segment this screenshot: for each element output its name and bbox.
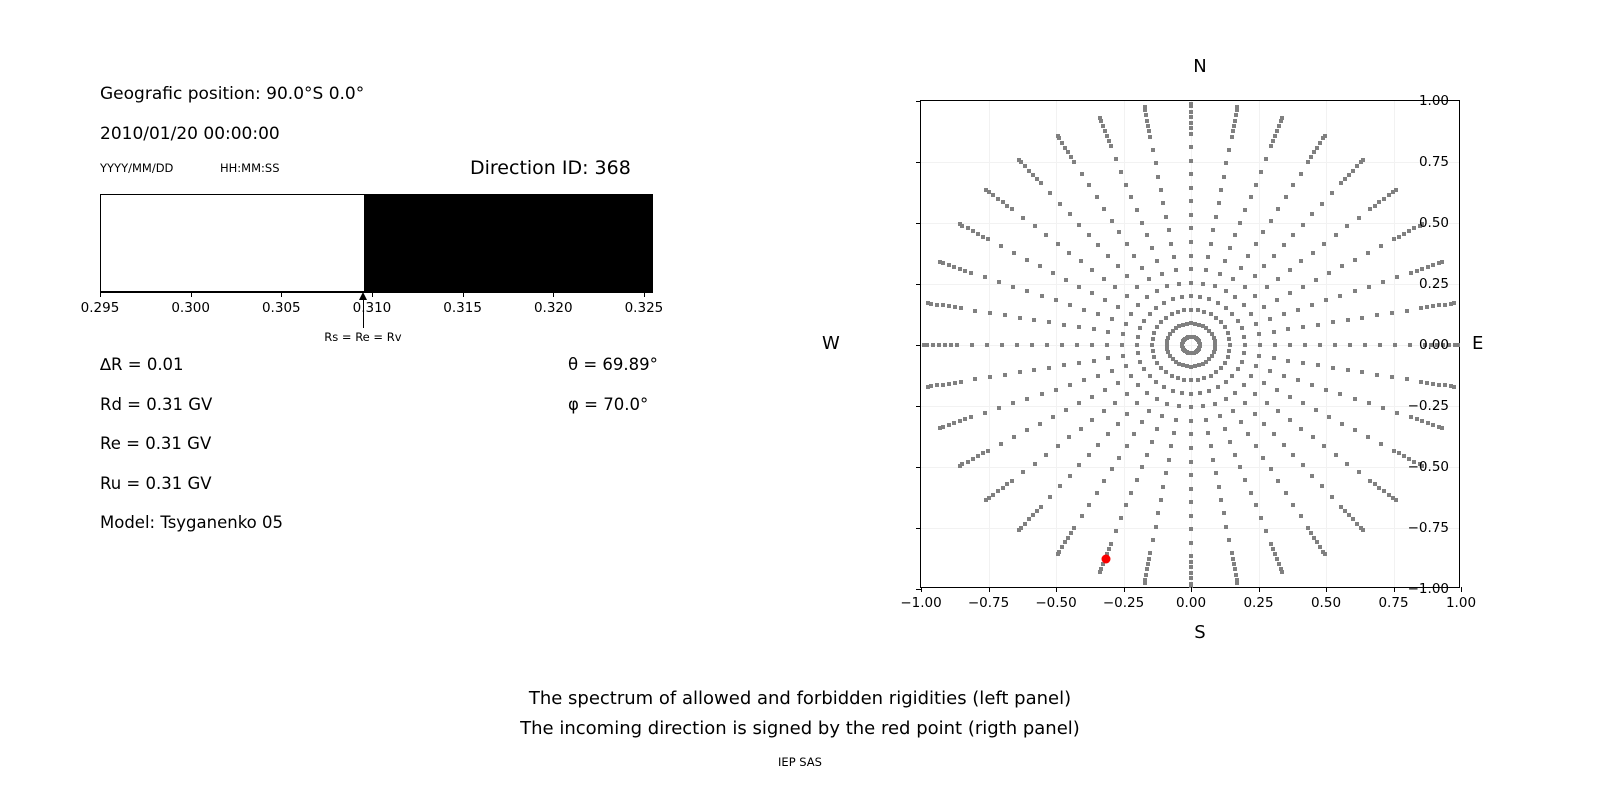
sky-dot bbox=[1331, 320, 1335, 324]
sky-dot bbox=[969, 271, 973, 275]
sky-dot bbox=[1005, 204, 1009, 208]
sky-dot bbox=[1125, 294, 1129, 298]
sky-dot bbox=[1021, 470, 1025, 474]
sky-dot bbox=[1145, 295, 1149, 299]
sky-dot bbox=[1116, 305, 1120, 309]
sky-dot bbox=[1080, 514, 1084, 518]
sky-dot bbox=[1440, 426, 1444, 430]
sky-dot bbox=[1068, 474, 1072, 478]
sky-dot bbox=[1075, 343, 1079, 347]
sky-dot bbox=[1010, 207, 1014, 211]
sky-dot bbox=[1198, 295, 1202, 299]
rigidity-tick-label: 0.305 bbox=[262, 300, 301, 316]
sky-dot bbox=[1169, 242, 1173, 246]
sky-dot bbox=[1431, 382, 1435, 386]
sky-dot bbox=[1282, 312, 1286, 316]
sky-dot bbox=[1161, 201, 1165, 205]
sky-dot bbox=[1242, 383, 1246, 387]
sky-dot bbox=[1230, 312, 1234, 316]
sky-dot bbox=[1243, 343, 1247, 347]
rigidity-tick bbox=[644, 292, 645, 297]
sky-dot bbox=[1231, 409, 1235, 413]
sky-dot bbox=[1138, 360, 1142, 364]
sky-dot bbox=[1063, 540, 1067, 544]
sky-dot bbox=[1092, 359, 1096, 363]
sky-dot bbox=[1027, 169, 1031, 173]
sky-dot bbox=[1106, 356, 1110, 360]
sky-dot bbox=[1125, 242, 1129, 246]
sky-dot bbox=[1119, 170, 1123, 174]
sky-dot bbox=[1242, 303, 1246, 307]
rigidity-tick-label: 0.325 bbox=[625, 300, 664, 316]
sky-dot bbox=[1233, 453, 1237, 457]
rigidity-tick-label: 0.320 bbox=[534, 300, 573, 316]
rigidity-tick-label: 0.300 bbox=[171, 300, 210, 316]
sky-dot bbox=[1271, 139, 1275, 143]
sky-dot bbox=[971, 229, 975, 233]
sky-dot bbox=[1402, 454, 1406, 458]
sky-dot bbox=[1056, 242, 1060, 246]
sky-dot bbox=[1125, 412, 1129, 416]
sky-dot bbox=[1282, 374, 1286, 378]
sky-dot bbox=[1155, 361, 1159, 365]
rs-annotation-arrow-head bbox=[359, 292, 367, 300]
sky-dot bbox=[1301, 285, 1305, 289]
sky-dot bbox=[981, 235, 985, 239]
sky-dot bbox=[1032, 318, 1036, 322]
sky-dot bbox=[1102, 409, 1106, 413]
sky-dot bbox=[1054, 298, 1058, 302]
sky-dot bbox=[1226, 331, 1230, 335]
date-format-hint: YYYY/MM/DD bbox=[100, 161, 173, 175]
sky-dot bbox=[1219, 188, 1223, 192]
y-axis-tick-label: −0.75 bbox=[1408, 520, 1449, 536]
sky-dot bbox=[1135, 343, 1139, 347]
sky-dot bbox=[1174, 268, 1178, 272]
sky-dot bbox=[1315, 146, 1319, 150]
sky-dot bbox=[1375, 313, 1379, 317]
sky-dot bbox=[1160, 272, 1164, 276]
sky-dot bbox=[1132, 432, 1136, 436]
x-axis-tick-label: −1.00 bbox=[900, 595, 941, 611]
sky-dot bbox=[1355, 164, 1359, 168]
sky-dot bbox=[1327, 415, 1331, 419]
sky-dot bbox=[1048, 495, 1052, 499]
sky-dot bbox=[1077, 401, 1081, 405]
sky-dot bbox=[1135, 208, 1139, 212]
sky-dot bbox=[1182, 308, 1186, 312]
left-panel: Geografic position: 90.0°S 0.0° 2010/01/… bbox=[0, 0, 800, 680]
sky-dot bbox=[937, 343, 941, 347]
sky-dot bbox=[953, 305, 957, 309]
sky-dot bbox=[1234, 573, 1238, 577]
sky-dot bbox=[1023, 522, 1027, 526]
sky-dot bbox=[1343, 177, 1347, 181]
sky-dot bbox=[1310, 303, 1314, 307]
sky-dot bbox=[1047, 366, 1051, 370]
sky-dot bbox=[958, 267, 962, 271]
sky-dot bbox=[1068, 383, 1072, 387]
y-axis-tick-label: −1.00 bbox=[1408, 581, 1449, 597]
sky-dot bbox=[941, 303, 945, 307]
footer-credit: IEP SAS bbox=[0, 755, 1600, 769]
sky-dot bbox=[1273, 343, 1277, 347]
sky-dot bbox=[1315, 540, 1319, 544]
sky-dot bbox=[1039, 505, 1043, 509]
sky-dot bbox=[1082, 308, 1086, 312]
sky-dot bbox=[1201, 404, 1205, 408]
sky-dot bbox=[1124, 503, 1128, 507]
sky-dot bbox=[1233, 391, 1237, 395]
x-axis-tick bbox=[1191, 587, 1192, 592]
rigidity-tick-label: 0.315 bbox=[443, 300, 482, 316]
sky-dot bbox=[1249, 195, 1253, 199]
sky-dot bbox=[1155, 289, 1159, 293]
sky-dot bbox=[1160, 414, 1164, 418]
sky-dot bbox=[1253, 392, 1257, 396]
sky-dot bbox=[997, 280, 1001, 284]
y-axis-tick bbox=[916, 467, 921, 468]
sky-dot bbox=[1064, 408, 1068, 412]
sky-dot bbox=[1228, 440, 1232, 444]
y-axis-tick bbox=[916, 223, 921, 224]
sky-dot bbox=[1390, 375, 1394, 379]
sky-dot bbox=[1202, 376, 1206, 380]
sky-dot bbox=[1261, 230, 1265, 234]
sky-dot bbox=[1216, 301, 1220, 305]
sky-dot bbox=[1155, 397, 1159, 401]
sky-dot bbox=[1189, 281, 1193, 285]
sky-dot bbox=[1426, 421, 1430, 425]
direction-id-label: Direction ID: 368 bbox=[470, 157, 631, 179]
sky-dot bbox=[986, 237, 990, 241]
sky-dot bbox=[1381, 280, 1385, 284]
sky-dot bbox=[1360, 316, 1364, 320]
sky-dot bbox=[1253, 294, 1257, 298]
sky-dot bbox=[1015, 343, 1019, 347]
sky-dot bbox=[1373, 482, 1377, 486]
sky-dot bbox=[1246, 254, 1250, 258]
sky-dot bbox=[1125, 274, 1129, 278]
sky-dot bbox=[1275, 298, 1279, 302]
sky-dot bbox=[1282, 243, 1286, 247]
sky-dot bbox=[1177, 362, 1181, 366]
sky-dot bbox=[1106, 432, 1110, 436]
rs-annotation-arrow-shaft bbox=[363, 300, 364, 328]
sky-dot bbox=[1119, 516, 1123, 520]
sky-dot bbox=[1443, 383, 1447, 387]
rigidity-tick bbox=[281, 292, 282, 297]
sky-dot bbox=[1056, 552, 1060, 556]
sky-dot bbox=[1276, 277, 1280, 281]
rigidity-tick bbox=[372, 292, 373, 297]
x-axis-tick-label: 0.00 bbox=[1176, 595, 1206, 611]
sky-dot bbox=[1412, 226, 1416, 230]
sky-dot bbox=[1275, 557, 1279, 561]
sky-dot bbox=[1395, 275, 1399, 279]
sky-dot bbox=[1079, 427, 1083, 431]
sky-dot bbox=[1106, 330, 1110, 334]
x-axis-tick-label: −0.25 bbox=[1103, 595, 1144, 611]
y-axis-tick bbox=[916, 162, 921, 163]
sky-dot bbox=[1147, 277, 1151, 281]
sky-dot bbox=[1174, 418, 1178, 422]
y-axis-tick bbox=[916, 406, 921, 407]
sky-dot bbox=[1148, 551, 1152, 555]
rigidity-tick bbox=[463, 292, 464, 297]
sky-dot bbox=[1105, 343, 1109, 347]
sky-dot bbox=[938, 260, 942, 264]
sky-dot bbox=[1280, 570, 1284, 574]
sky-dot bbox=[1268, 369, 1272, 373]
sky-dot bbox=[1145, 567, 1149, 571]
time-format-hint: HH:MM:SS bbox=[220, 161, 280, 175]
sky-dot bbox=[1211, 458, 1215, 462]
sky-dot bbox=[1269, 219, 1273, 223]
sky-dot bbox=[1301, 401, 1305, 405]
y-axis-tick-label: 0.50 bbox=[1419, 215, 1449, 231]
sky-dot bbox=[1054, 388, 1058, 392]
sky-dot bbox=[1214, 316, 1218, 320]
sky-dot bbox=[1324, 298, 1328, 302]
sky-dot bbox=[1312, 536, 1316, 540]
sky-dot bbox=[1189, 132, 1193, 136]
sky-dot bbox=[1223, 325, 1227, 329]
sky-dot bbox=[983, 411, 987, 415]
sky-dot bbox=[1087, 503, 1091, 507]
sky-dot bbox=[1440, 260, 1444, 264]
sky-dot bbox=[1303, 343, 1307, 347]
sky-dot bbox=[1311, 435, 1315, 439]
sky-dot bbox=[1116, 381, 1120, 385]
sky-dot bbox=[1125, 444, 1129, 448]
sky-dot bbox=[1375, 373, 1379, 377]
sky-dot bbox=[1198, 391, 1202, 395]
sky-dot bbox=[1025, 258, 1029, 262]
x-axis-tick-label: 0.25 bbox=[1243, 595, 1273, 611]
sky-dot bbox=[1223, 361, 1227, 365]
compass-label-north: N bbox=[1193, 56, 1206, 77]
sky-dot bbox=[1276, 409, 1280, 413]
sky-dot bbox=[935, 303, 939, 307]
sky-dot bbox=[1027, 517, 1031, 521]
sky-dot bbox=[1164, 215, 1168, 219]
sky-dot bbox=[1148, 312, 1152, 316]
sky-dot bbox=[1357, 216, 1361, 220]
sky-dot bbox=[1150, 440, 1154, 444]
sky-dot bbox=[984, 498, 988, 502]
sky-dot bbox=[1189, 473, 1193, 477]
sky-dot bbox=[1272, 432, 1276, 436]
rigidity-tick-label: 0.310 bbox=[353, 300, 392, 316]
sky-dot bbox=[1096, 443, 1100, 447]
sky-dot bbox=[1180, 391, 1184, 395]
sky-dot bbox=[1196, 308, 1200, 312]
sky-dot bbox=[1228, 246, 1232, 250]
gridline-horizontal bbox=[921, 223, 1459, 224]
sky-dot bbox=[952, 265, 956, 269]
sky-dot bbox=[1249, 374, 1253, 378]
sky-dot bbox=[1301, 325, 1305, 329]
sky-dot bbox=[1318, 545, 1322, 549]
sky-dot bbox=[963, 417, 967, 421]
sky-dot bbox=[1238, 465, 1242, 469]
sky-dot bbox=[1353, 428, 1357, 432]
sky-dot bbox=[1234, 113, 1238, 117]
sky-dot bbox=[1048, 191, 1052, 195]
sky-dot bbox=[1087, 453, 1091, 457]
sky-dot bbox=[963, 269, 967, 273]
sky-dot bbox=[1110, 467, 1114, 471]
sky-dot bbox=[1299, 514, 1303, 518]
sky-dot bbox=[1331, 366, 1335, 370]
sky-dot bbox=[1224, 397, 1228, 401]
sky-dot bbox=[1243, 401, 1247, 405]
sky-dot bbox=[947, 263, 951, 267]
sky-dot bbox=[1409, 415, 1413, 419]
sky-dot bbox=[986, 449, 990, 453]
sky-dot bbox=[1025, 428, 1029, 432]
sky-dot bbox=[1249, 312, 1253, 316]
sky-dot bbox=[1254, 183, 1258, 187]
sky-dot bbox=[1056, 134, 1060, 138]
sky-dot bbox=[1170, 312, 1174, 316]
sky-dot bbox=[1044, 453, 1048, 457]
sky-dot bbox=[1156, 175, 1160, 179]
sky-dot bbox=[1443, 303, 1447, 307]
sky-dot bbox=[1377, 486, 1381, 490]
sky-dot bbox=[1135, 401, 1139, 405]
sky-dot bbox=[1189, 159, 1193, 163]
sky-dot bbox=[1047, 320, 1051, 324]
sky-dot bbox=[1164, 471, 1168, 475]
sky-dot bbox=[1095, 491, 1099, 495]
sky-dot bbox=[1142, 367, 1146, 371]
sky-dot bbox=[1135, 478, 1139, 482]
sky-dot bbox=[1113, 285, 1117, 289]
sky-dot bbox=[1282, 443, 1286, 447]
parameter-row: θ = 69.89° bbox=[568, 355, 658, 374]
sky-dot bbox=[1155, 259, 1159, 263]
sky-dot bbox=[1227, 148, 1231, 152]
sky-dot bbox=[1339, 181, 1343, 185]
sky-dot bbox=[1095, 195, 1099, 199]
sky-dot bbox=[1189, 514, 1193, 518]
sky-dot bbox=[1346, 318, 1350, 322]
y-axis-tick-label: −0.25 bbox=[1408, 398, 1449, 414]
caption-line-1: The spectrum of allowed and forbidden ri… bbox=[0, 684, 1600, 714]
sky-dot bbox=[1185, 364, 1189, 368]
sky-dot bbox=[1032, 368, 1036, 372]
sky-dot bbox=[1392, 449, 1396, 453]
sky-dot bbox=[1069, 531, 1073, 535]
sky-dot bbox=[1072, 160, 1076, 164]
sky-dot bbox=[1309, 155, 1313, 159]
sky-dot bbox=[1132, 254, 1136, 258]
sky-dot bbox=[1196, 378, 1200, 382]
sky-dot bbox=[959, 306, 963, 310]
sky-dot bbox=[1151, 148, 1155, 152]
sky-dot bbox=[1379, 442, 1383, 446]
sky-dot bbox=[1171, 389, 1175, 393]
sky-dot bbox=[1167, 458, 1171, 462]
sky-dot bbox=[1189, 115, 1193, 119]
sky-dot bbox=[976, 454, 980, 458]
sky-dot bbox=[1121, 354, 1125, 358]
sky-dot bbox=[1189, 571, 1193, 575]
sky-dot bbox=[1239, 266, 1243, 270]
sky-dot bbox=[1189, 446, 1193, 450]
sky-dot bbox=[1230, 374, 1234, 378]
sky-dot bbox=[1136, 383, 1140, 387]
sky-dot bbox=[1189, 378, 1193, 382]
sky-dot bbox=[1109, 144, 1113, 148]
parameter-row: Model: Tsyganenko 05 bbox=[100, 513, 283, 532]
sky-dot bbox=[1437, 303, 1441, 307]
x-axis-tick-label: −0.50 bbox=[1035, 595, 1076, 611]
sky-dot bbox=[1276, 207, 1280, 211]
sky-dot bbox=[1254, 322, 1258, 326]
sky-dot bbox=[1405, 377, 1409, 381]
sky-dot bbox=[1189, 267, 1193, 271]
sky-dot bbox=[1060, 545, 1064, 549]
sky-dot bbox=[1067, 435, 1071, 439]
sky-dot bbox=[1286, 327, 1290, 331]
sky-dot bbox=[1105, 134, 1109, 138]
sky-dot bbox=[1327, 271, 1331, 275]
parameter-row: Re = 0.31 GV bbox=[100, 434, 211, 453]
sky-dot bbox=[1209, 312, 1213, 316]
sky-dot bbox=[981, 451, 985, 455]
sky-dot bbox=[1110, 317, 1114, 321]
sky-dot bbox=[1051, 415, 1055, 419]
sky-dot bbox=[1189, 365, 1193, 369]
sky-dot bbox=[1230, 551, 1234, 555]
sky-dot bbox=[1102, 277, 1106, 281]
sky-dot bbox=[1116, 422, 1120, 426]
sky-dot bbox=[1378, 343, 1382, 347]
sky-dot bbox=[926, 385, 930, 389]
parameter-row: φ = 70.0° bbox=[568, 395, 648, 414]
sky-dot bbox=[1040, 392, 1044, 396]
sky-dot bbox=[1021, 216, 1025, 220]
sky-dot bbox=[973, 377, 977, 381]
sky-dot bbox=[931, 343, 935, 347]
sky-dot bbox=[1058, 202, 1062, 206]
sky-dot bbox=[1011, 285, 1015, 289]
sky-dot bbox=[1299, 172, 1303, 176]
sky-dot bbox=[1185, 322, 1189, 326]
sky-dot bbox=[984, 188, 988, 192]
sky-dot bbox=[1209, 444, 1213, 448]
compass-label-west: W bbox=[822, 333, 840, 354]
sky-dot bbox=[1031, 173, 1035, 177]
incoming-direction-point bbox=[1102, 554, 1111, 563]
sky-dot bbox=[1040, 294, 1044, 298]
sky-dot bbox=[1090, 343, 1094, 347]
sky-dot bbox=[1151, 349, 1155, 353]
sky-dot bbox=[1193, 364, 1197, 368]
sky-dot bbox=[1320, 202, 1324, 206]
sky-dot bbox=[1323, 552, 1327, 556]
sky-dot bbox=[1284, 195, 1288, 199]
sky-dot bbox=[991, 493, 995, 497]
sky-dot bbox=[1144, 113, 1148, 117]
sky-dot bbox=[1223, 259, 1227, 263]
sky-dot bbox=[1222, 511, 1226, 515]
compass-label-south: S bbox=[1194, 622, 1205, 643]
sky-dot bbox=[1262, 381, 1266, 385]
